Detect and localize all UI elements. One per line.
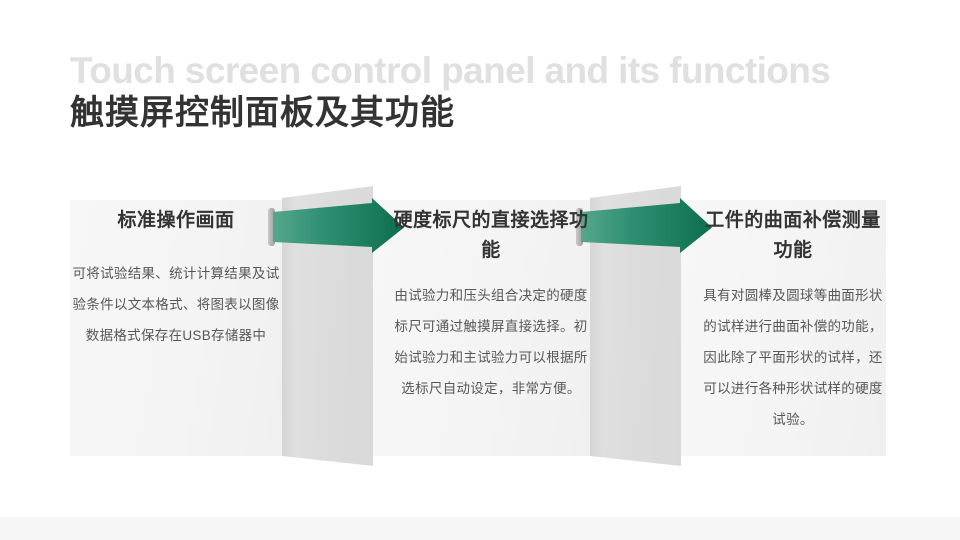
column-2-body: 由试验力和压头组合决定的硬度标尺可通过触摸屏直接选择。初始试验力和主试验力可以根… xyxy=(392,280,590,404)
column-3: 工件的曲面补偿测量功能 具有对圆棒及圆球等曲面形状的试样进行曲面补偿的功能，因此… xyxy=(700,206,886,435)
arrow-step-2-to-3 xyxy=(576,200,716,256)
arrow-step-1-to-2 xyxy=(268,200,408,256)
bottom-decorative-band xyxy=(0,517,960,540)
title-english: Touch screen control panel and its funct… xyxy=(70,48,950,94)
column-1-body: 可将试验结果、统计计算结果及试验条件以文本格式、将图表以图像数据格式保存在USB… xyxy=(72,258,280,351)
column-1-heading: 标准操作画面 xyxy=(72,206,280,236)
column-2-heading: 硬度标尺的直接选择功能 xyxy=(392,206,590,266)
slide-canvas: Touch screen control panel and its funct… xyxy=(0,0,960,540)
arrow-body-2 xyxy=(581,198,712,253)
column-3-body: 具有对圆棒及圆球等曲面形状的试样进行曲面补偿的功能，因此除了平面形状的试样，还可… xyxy=(700,280,886,435)
column-3-heading: 工件的曲面补偿测量功能 xyxy=(700,206,886,266)
title-block: Touch screen control panel and its funct… xyxy=(70,48,950,134)
title-chinese: 触摸屏控制面板及其功能 xyxy=(70,92,950,134)
column-1: 标准操作画面 可将试验结果、统计计算结果及试验条件以文本格式、将图表以图像数据格… xyxy=(72,206,280,351)
arrow-body-1 xyxy=(273,198,404,253)
column-2: 硬度标尺的直接选择功能 由试验力和压头组合决定的硬度标尺可通过触摸屏直接选择。初… xyxy=(392,206,590,404)
